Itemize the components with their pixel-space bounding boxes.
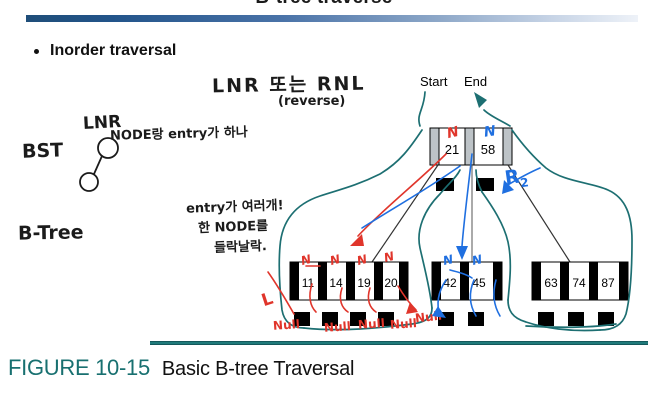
page-title: B-tree traverse [0, 0, 648, 9]
svg-text:74: 74 [572, 276, 586, 290]
ink-bst-sketch [76, 130, 130, 200]
leaf-node-3: 63 74 87 [532, 262, 628, 300]
ink-bst-label: BST [22, 139, 64, 162]
bullet-item: Inorder traversal [34, 42, 176, 60]
svg-text:45: 45 [472, 276, 486, 290]
svg-text:42: 42 [443, 276, 457, 290]
ink-btree-label: B-Tree [18, 221, 84, 244]
ink-note-node-entry: NODE랑 entry가 하나 [110, 121, 248, 144]
root-node: 21 58 [430, 128, 512, 165]
figure-title: Basic B-tree Traversal [162, 358, 354, 381]
bullet-item-label: Inorder traversal [50, 42, 176, 60]
leaf-node-2: 42 45 [432, 262, 502, 300]
svg-text:20: 20 [384, 276, 398, 290]
title-gradient-rule [26, 15, 638, 22]
caption-rule [150, 341, 648, 345]
btree-figure: Start End 21 58 11 14 19 [260, 70, 648, 340]
svg-text:14: 14 [329, 276, 343, 290]
figure-number: FIGURE 10-15 [8, 355, 150, 381]
svg-text:63: 63 [544, 276, 558, 290]
ink-note-many-entries-2: 한 NODE를 [198, 215, 269, 236]
figure-caption: FIGURE 10-15 Basic B-tree Traversal [8, 355, 354, 381]
svg-text:87: 87 [601, 276, 615, 290]
leaf-node-1: 11 14 19 20 [290, 262, 408, 300]
svg-text:21: 21 [445, 142, 459, 157]
ink-lnr-label: LNR [83, 112, 122, 134]
bullet-dot-icon [34, 49, 39, 54]
svg-text:11: 11 [302, 276, 315, 290]
btree-structure-svg: 21 58 11 14 19 20 [260, 70, 648, 340]
svg-text:58: 58 [481, 142, 495, 157]
svg-text:19: 19 [357, 276, 371, 290]
